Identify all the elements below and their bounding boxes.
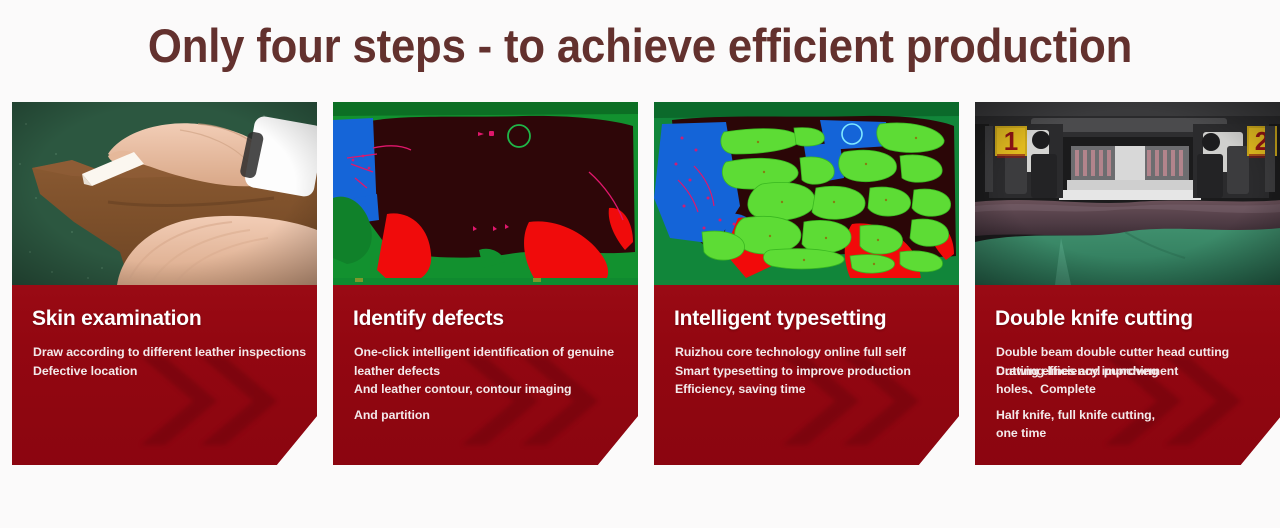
card-description-list: Double beam double cutter head cutting D… xyxy=(975,331,1280,443)
card-description-list: One-click intelligent identification of … xyxy=(333,331,638,424)
card-line: Defective location xyxy=(33,362,301,381)
card-body-identify-defects: Identify defects One-click intelligent i… xyxy=(333,285,638,465)
card-line: One-click intelligent identification of … xyxy=(354,343,622,362)
card-line: holes、Complete xyxy=(996,380,1265,399)
card-line-overlapping: Drawing lines and punching Cutting effic… xyxy=(996,362,1265,381)
step-card-skin-examination[interactable]: Skin examination Draw according to diffe… xyxy=(12,102,317,465)
card-photo-identify-defects xyxy=(333,102,638,285)
step-card-double-knife-cutting[interactable]: 1 2 xyxy=(975,102,1280,465)
card-line: Double beam double cutter head cutting xyxy=(996,343,1265,362)
card-title: Intelligent typesetting xyxy=(654,285,959,331)
double-knife-cutting-machine-photo: 1 2 xyxy=(975,102,1280,285)
card-line: Smart typesetting to improve production xyxy=(675,362,943,381)
card-line: leather defects xyxy=(354,362,622,381)
card-line-overlay-a: Cutting efficiency improvement xyxy=(996,364,1178,378)
card-photo-skin-examination xyxy=(12,102,317,285)
card-line: Ruizhou core technology online full self xyxy=(675,343,943,362)
card-body-double-knife-cutting: Double knife cutting Double beam double … xyxy=(975,285,1280,465)
card-line: And partition xyxy=(354,406,622,425)
step-card-intelligent-typesetting[interactable]: Intelligent typesetting Ruizhou core tec… xyxy=(654,102,959,465)
steps-card-strip: Skin examination Draw according to diffe… xyxy=(12,102,1268,465)
card-body-skin-examination: Skin examination Draw according to diffe… xyxy=(12,285,317,465)
card-title: Double knife cutting xyxy=(975,285,1280,331)
card-line: one time xyxy=(996,424,1265,443)
card-line: Draw according to different leather insp… xyxy=(33,343,301,362)
step-card-identify-defects[interactable]: Identify defects One-click intelligent i… xyxy=(333,102,638,465)
card-photo-double-knife-cutting: 1 2 xyxy=(975,102,1280,285)
card-body-intelligent-typesetting: Intelligent typesetting Ruizhou core tec… xyxy=(654,285,959,465)
card-description-list: Ruizhou core technology online full self… xyxy=(654,331,959,399)
nesting-typesetting-photo xyxy=(654,102,959,285)
card-title: Identify defects xyxy=(333,285,638,331)
card-line: Efficiency, saving time xyxy=(675,380,943,399)
card-title: Skin examination xyxy=(12,285,317,331)
hand-marking-leather-photo xyxy=(12,102,317,285)
page-title: Only four steps - to achieve efficient p… xyxy=(45,18,1235,74)
card-photo-intelligent-typesetting xyxy=(654,102,959,285)
card-description-list: Draw according to different leather insp… xyxy=(12,331,317,380)
card-line: Half knife, full knife cutting, xyxy=(996,406,1265,425)
defect-segmentation-photo xyxy=(333,102,638,285)
card-line: And leather contour, contour imaging xyxy=(354,380,622,399)
